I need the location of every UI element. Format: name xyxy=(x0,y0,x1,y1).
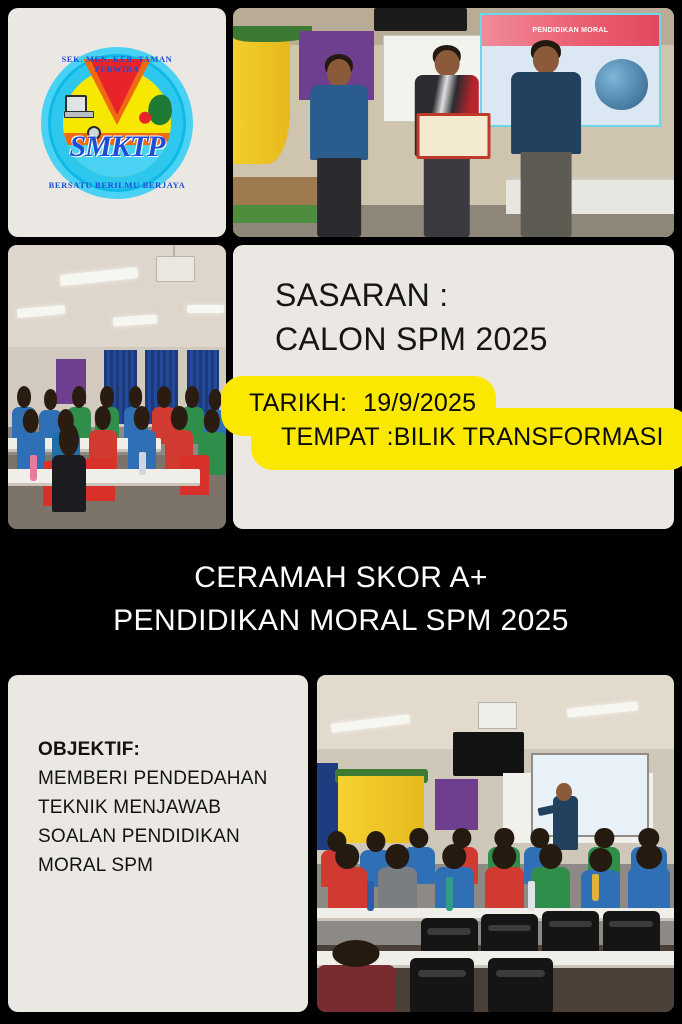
wall-tv xyxy=(374,8,467,31)
title-line-1: CERAMAH SKOR A+ xyxy=(194,557,488,600)
tempat-label: TEMPAT : xyxy=(281,423,394,451)
tempat-value: BILIK TRANSFORMASI xyxy=(394,423,664,451)
water-bottle xyxy=(446,877,453,911)
torso xyxy=(310,85,368,160)
black-chair xyxy=(488,958,552,1012)
black-chair xyxy=(542,911,599,955)
speaker-torso xyxy=(553,796,578,850)
lecture-scene xyxy=(317,675,674,1012)
computer-icon xyxy=(65,95,87,113)
tarikh-label: TARIKH: xyxy=(249,389,347,417)
person-left xyxy=(304,54,375,237)
objective-heading: OBJEKTIF: xyxy=(38,736,294,765)
student xyxy=(531,867,570,911)
photo-lecture-session xyxy=(317,675,674,1012)
wall-tv xyxy=(453,732,524,776)
title-line-2: PENDIDIKAN MORAL SPM 2025 xyxy=(113,600,569,643)
poster-title: CERAMAH SKOR A+ PENDIDIKAN MORAL SPM 202… xyxy=(0,545,682,655)
torso xyxy=(511,72,581,155)
head xyxy=(533,46,559,74)
ceiling-light-4 xyxy=(187,305,224,314)
school-logo-panel: SEK. MEN. KEB. TAMAN PERWIRA SMKTP BERSA… xyxy=(8,8,226,237)
yellow-curtain xyxy=(233,31,290,164)
student xyxy=(328,867,367,911)
student xyxy=(378,867,417,911)
objective-panel: OBJEKTIF: MEMBERI PENDEDAHAN TEKNIK MENJ… xyxy=(8,675,308,1012)
photo-certificate-handover: PENDIDIKAN MORAL xyxy=(233,8,674,237)
ceiling-projector xyxy=(478,702,517,729)
tarikh-value: 19/9/2025 xyxy=(363,389,476,417)
certificate-frame xyxy=(416,113,491,159)
water-bottle xyxy=(367,881,374,911)
tarikh-line: TARIKH:19/9/2025 xyxy=(249,389,476,418)
black-chair xyxy=(410,958,474,1012)
logo-arc-top-text: SEK. MEN. KEB. TAMAN PERWIRA xyxy=(41,54,193,74)
student xyxy=(628,867,671,911)
head xyxy=(327,59,351,86)
smktp-logo: SEK. MEN. KEB. TAMAN PERWIRA SMKTP BERSA… xyxy=(41,47,193,199)
water-bottle xyxy=(528,881,535,911)
poster-root: SEK. MEN. KEB. TAMAN PERWIRA SMKTP BERSA… xyxy=(0,0,682,1024)
highlight-group: TARIKH:19/9/2025 TEMPAT :BILIK TRANSFORM… xyxy=(233,245,674,529)
student-foreground xyxy=(317,965,396,1012)
classroom-scene xyxy=(8,245,226,529)
objective-text: OBJEKTIF: MEMBERI PENDEDAHAN TEKNIK MENJ… xyxy=(38,736,294,880)
legs xyxy=(317,158,361,237)
photo-classroom-audience xyxy=(8,245,226,529)
student-foreground xyxy=(52,455,87,512)
water-bottle xyxy=(30,455,37,481)
student xyxy=(485,867,524,911)
logo-arc-bottom-text: BERSATU BERILMU BERJAYA xyxy=(41,180,193,190)
black-chair xyxy=(603,911,660,955)
certificate-scene: PENDIDIKAN MORAL xyxy=(233,8,674,237)
speaker-head xyxy=(556,783,572,801)
legs xyxy=(424,154,470,237)
objective-body: MEMBERI PENDEDAHAN TEKNIK MENJAWAB SOALA… xyxy=(38,765,294,881)
water-bottle xyxy=(592,874,599,901)
person-right-presenter xyxy=(506,40,585,237)
projection-screen xyxy=(531,753,649,837)
logo-center-text: SMKTP xyxy=(41,130,193,164)
legs xyxy=(521,152,572,237)
ceiling-projector xyxy=(156,256,195,282)
student xyxy=(435,867,474,911)
purple-board xyxy=(435,779,478,830)
water-bottle xyxy=(139,452,146,475)
globe-graphic xyxy=(595,59,648,110)
head xyxy=(435,50,460,77)
tempat-line: TEMPAT :BILIK TRANSFORMASI xyxy=(281,423,664,452)
